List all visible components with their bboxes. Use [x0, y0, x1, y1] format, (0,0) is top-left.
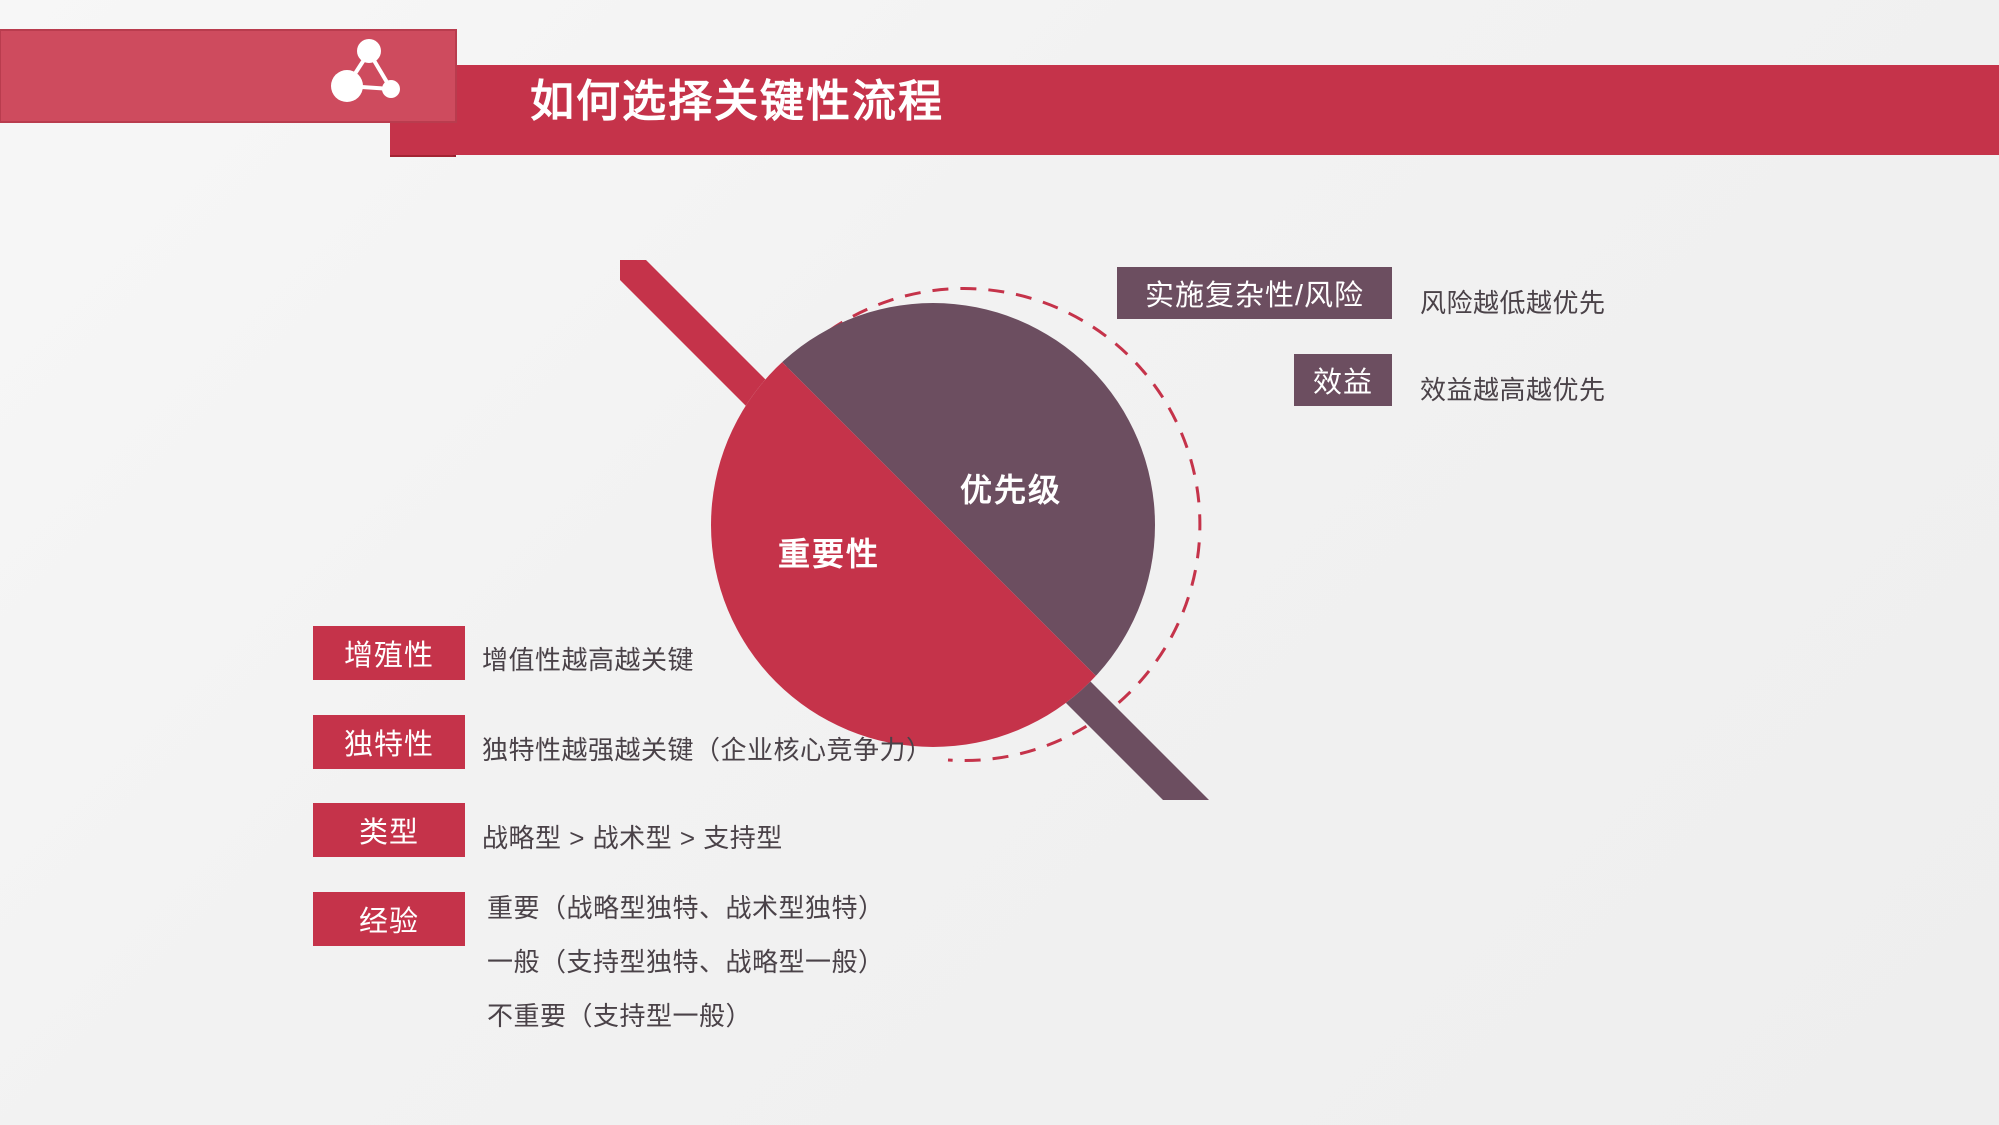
description-experience-line: 重要（战略型独特、战术型独特） [487, 881, 885, 935]
badge-benefit[interactable]: 效益 [1294, 354, 1392, 406]
logo-banner [0, 30, 456, 122]
description-type: 战略型 > 战术型 > 支持型 [482, 818, 783, 855]
description-experience: 重要（战略型独特、战术型独特）一般（支持型独特、战略型一般）不重要（支持型一般） [487, 881, 885, 1043]
slide-canvas: 如何选择关键性流程 优先级 重要性 实施复杂性/风险 [0, 0, 1999, 1125]
badge-uniqueness[interactable]: 独特性 [313, 715, 465, 769]
page-title: 如何选择关键性流程 [530, 74, 944, 130]
badge-implementation-risk[interactable]: 实施复杂性/风险 [1117, 267, 1392, 319]
description-growth: 增值性越高越关键 [482, 640, 694, 677]
split-circle-diagram [620, 260, 1260, 800]
header-graphics [0, 0, 1999, 180]
badge-type[interactable]: 类型 [313, 803, 465, 857]
description-experience-line: 不重要（支持型一般） [487, 989, 885, 1043]
description-uniqueness: 独特性越强越关键（企业核心竞争力） [482, 730, 933, 767]
circle-label-importance: 重要性 [778, 529, 880, 575]
badge-growth[interactable]: 增殖性 [313, 626, 465, 680]
badge-experience[interactable]: 经验 [313, 892, 465, 946]
description-benefit: 效益越高越优先 [1420, 370, 1606, 407]
description-implementation-risk: 风险越低越优先 [1420, 283, 1606, 320]
description-experience-line: 一般（支持型独特、战略型一般） [487, 935, 885, 989]
slide-header: 如何选择关键性流程 [0, 0, 1999, 180]
circle-label-priority: 优先级 [960, 465, 1062, 511]
